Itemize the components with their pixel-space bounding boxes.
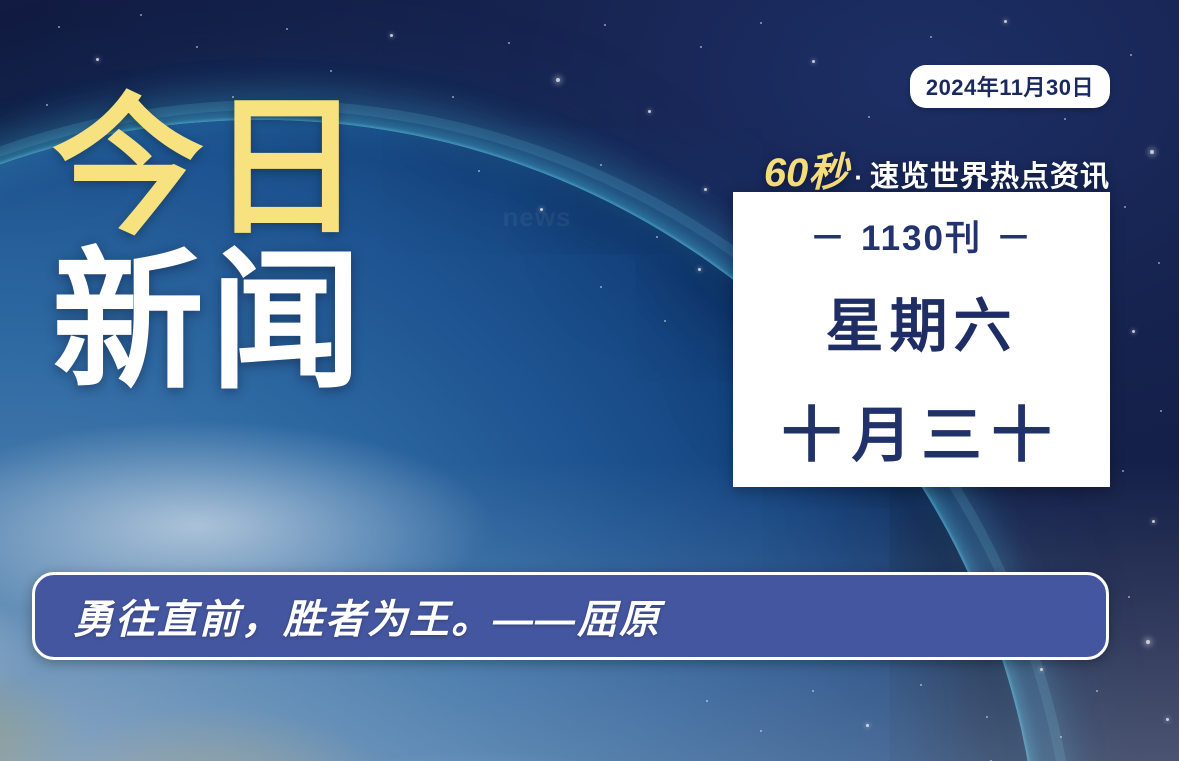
tagline-text: 速览世界热点资讯	[870, 161, 1110, 193]
tagline-seconds: 60秒	[764, 151, 849, 195]
brand-title-line1: 今日	[52, 96, 482, 242]
tagline-separator: ·	[854, 162, 864, 192]
issue-dash-right: －	[996, 210, 1033, 261]
brand-title: 今日 新闻	[52, 96, 482, 396]
date-badge: 2024年11月30日	[910, 65, 1110, 108]
weekday-label: 星期六	[825, 279, 1017, 363]
lunar-date-label: 十月三十	[782, 387, 1062, 474]
tagline: 60秒·速览世界热点资讯	[764, 140, 1110, 198]
date-card: －1130刊－ 星期六 十月三十	[733, 192, 1110, 487]
issue-dash-left: －	[810, 210, 847, 261]
issue-number: 1130刊	[861, 219, 982, 258]
brand-title-line2: 新闻	[52, 250, 482, 396]
quote-bar: 勇往直前，胜者为王。——屈原	[32, 572, 1109, 660]
quote-text: 勇往直前，胜者为王。——屈原	[35, 587, 661, 645]
issue-line: －1130刊－	[796, 210, 1047, 261]
news-poster: news 今日 新闻 2024年11月30日 60秒·速览世界热点资讯 －113…	[0, 0, 1179, 761]
